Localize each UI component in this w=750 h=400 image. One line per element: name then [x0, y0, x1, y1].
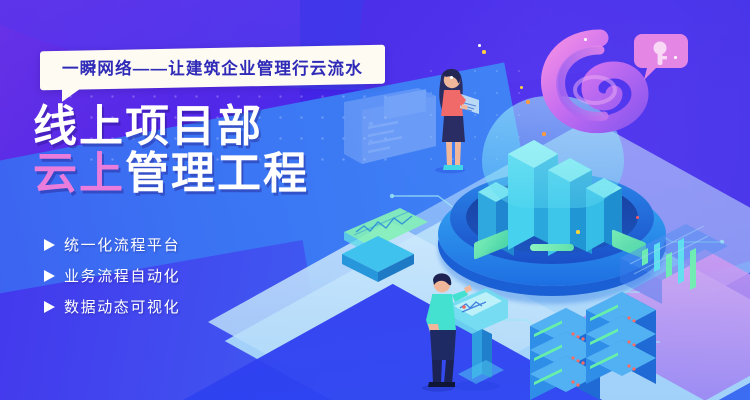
sparkle — [674, 56, 677, 59]
list-item: 数据动态可视化 — [44, 296, 180, 317]
headline-rest-text: 管理工程 — [125, 149, 309, 198]
headline-accent-text: 云上 — [33, 149, 125, 198]
triangle-right-icon — [44, 270, 55, 282]
list-item: 业务流程自动化 — [44, 265, 180, 286]
sparkle — [526, 100, 530, 104]
sparkle — [636, 216, 639, 219]
platform-status-bar — [530, 244, 574, 251]
sparkle — [576, 230, 580, 234]
tagline-tail — [62, 88, 82, 102]
tagline-bubble: 一瞬网络——让建筑企业管理行云流水 — [40, 48, 385, 87]
key-speech-bubble-icon — [630, 30, 690, 86]
sparkle — [584, 38, 587, 41]
line-chart-monitor — [338, 204, 434, 300]
isometric-illustration — [330, 0, 750, 400]
list-item-label: 数据动态可视化 — [64, 296, 180, 317]
list-item-label: 统一化流程平台 — [64, 234, 180, 255]
triangle-right-icon — [44, 239, 55, 251]
sparkle — [520, 86, 523, 89]
page-title: 线上项目部 云上管理工程 — [33, 104, 309, 197]
tagline-box: 一瞬网络——让建筑企业管理行云流水 — [40, 45, 385, 91]
sparkle — [542, 132, 546, 136]
headline-line-2: 云上管理工程 — [33, 151, 309, 196]
tagline-text: 一瞬网络——让建筑企业管理行云流水 — [62, 55, 363, 79]
list-item-label: 业务流程自动化 — [64, 265, 180, 286]
bar-chart-panel — [614, 218, 734, 330]
sparkle — [450, 76, 453, 79]
woman-with-tablet — [422, 62, 482, 174]
triangle-right-icon — [44, 301, 55, 313]
feature-list: 统一化流程平台 业务流程自动化 数据动态可视化 — [44, 234, 180, 327]
list-item: 统一化流程平台 — [44, 234, 180, 255]
sparkle — [482, 50, 486, 54]
sparkle — [478, 44, 481, 47]
headline-line-1: 线上项目部 — [33, 104, 309, 149]
promo-banner: 一瞬网络——让建筑企业管理行云流水 线上项目部 云上管理工程 统一化流程平台 业… — [0, 0, 750, 400]
